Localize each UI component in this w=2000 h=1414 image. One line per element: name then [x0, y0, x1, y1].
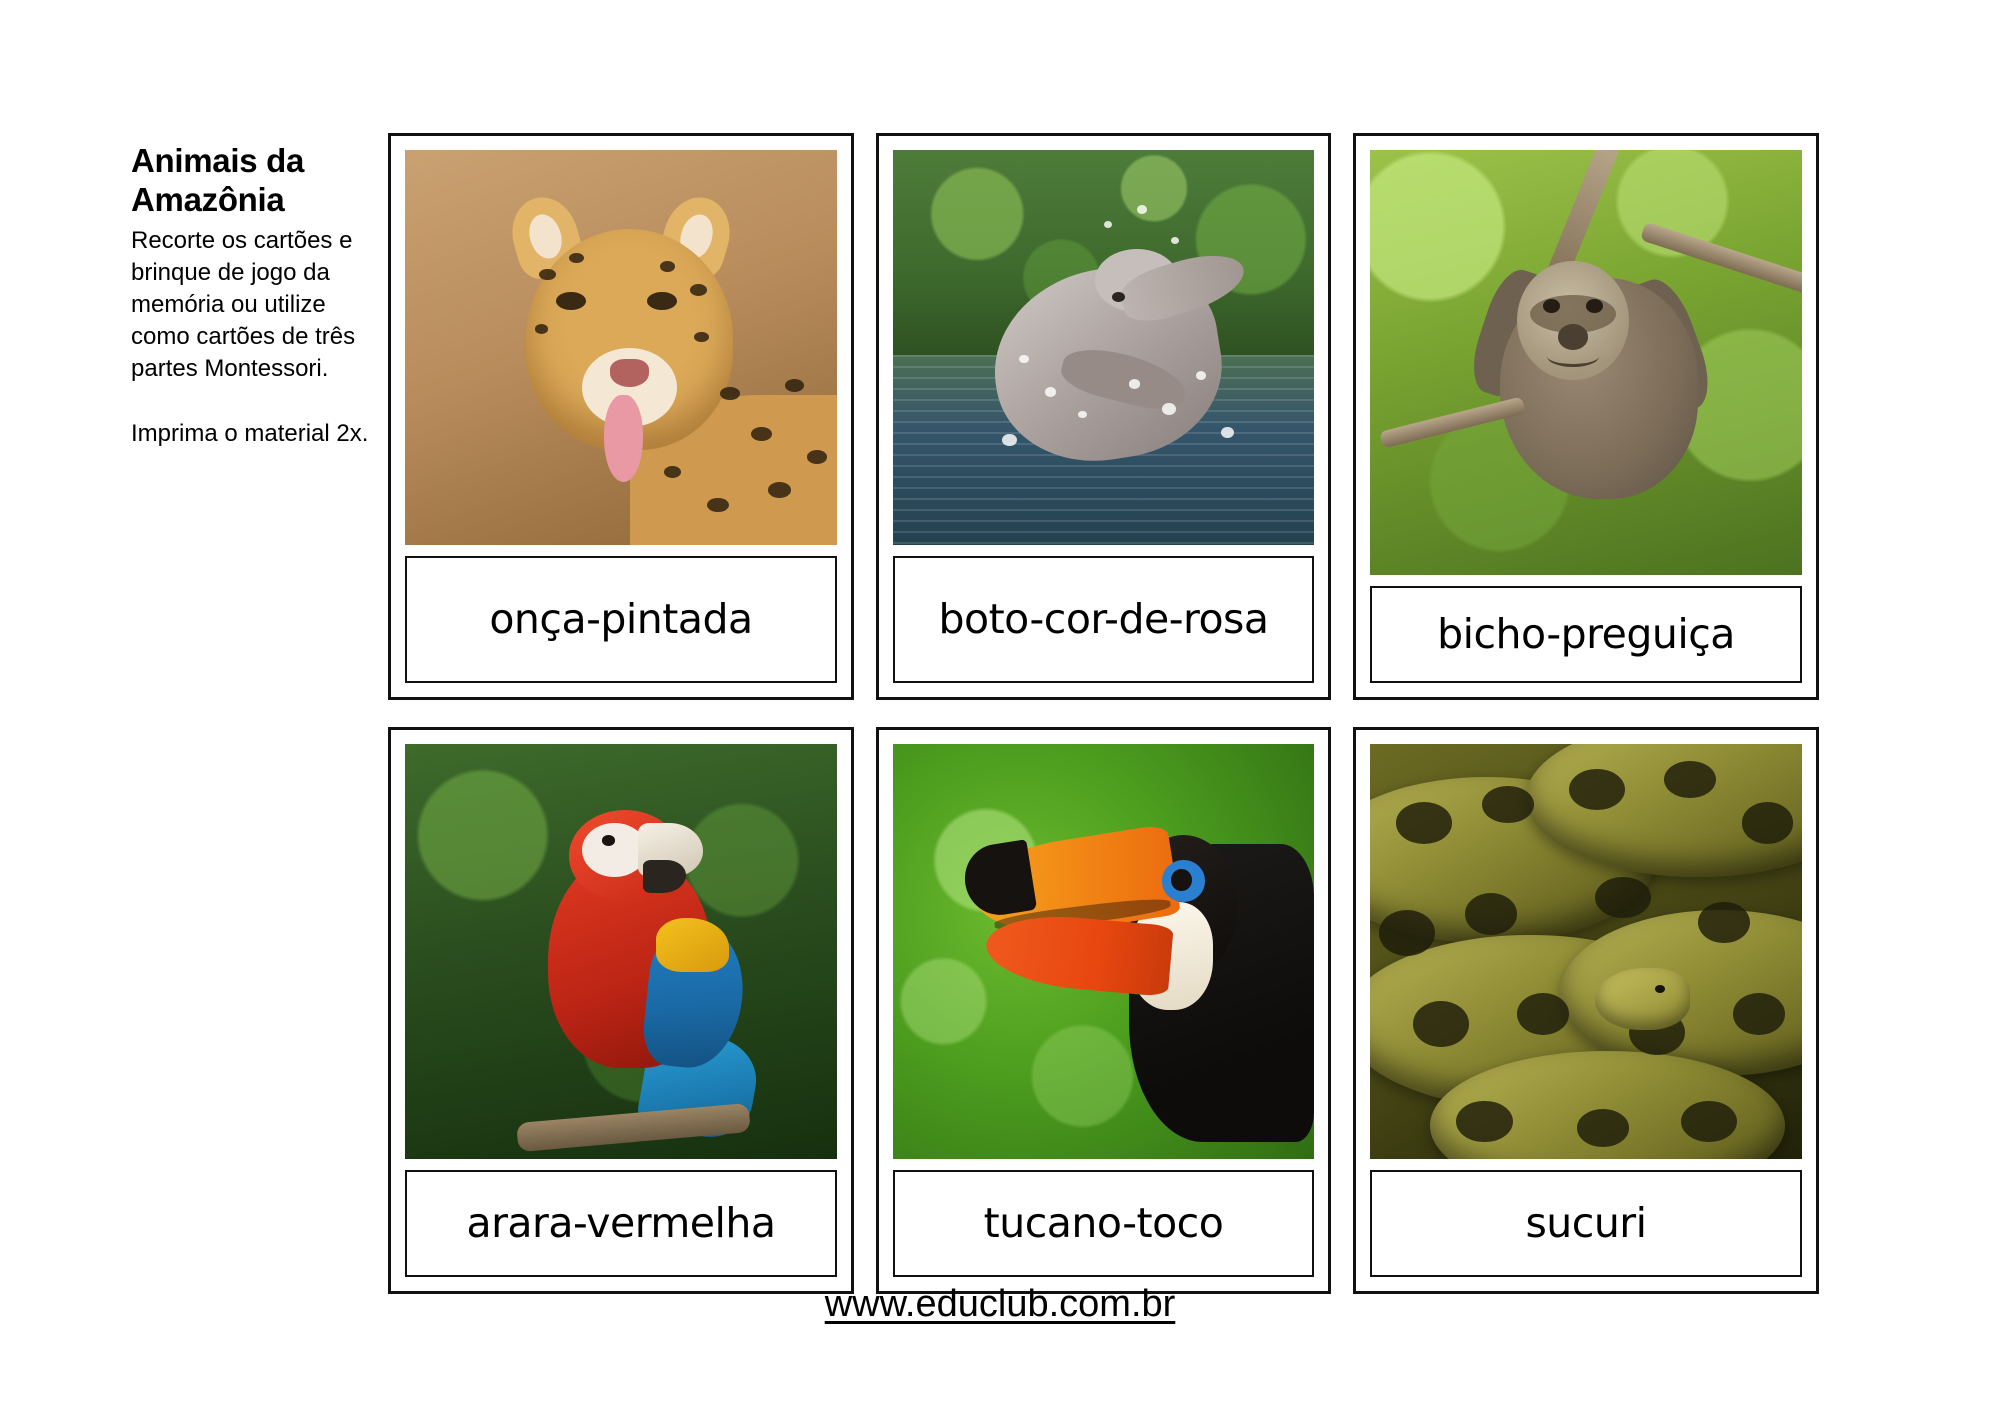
card-onca-pintada[interactable]: onça-pintada: [388, 133, 854, 700]
card-label: onça-pintada: [405, 556, 837, 683]
footer: www.educlub.com.br: [0, 1283, 2000, 1326]
card-label: tucano-toco: [893, 1170, 1314, 1277]
river-dolphin-photo: [893, 150, 1314, 545]
website-link[interactable]: www.educlub.com.br: [825, 1283, 1176, 1325]
card-label: boto-cor-de-rosa: [893, 556, 1314, 683]
anaconda-photo: [1370, 744, 1802, 1159]
card-tucano-toco[interactable]: tucano-toco: [876, 727, 1331, 1294]
card-bicho-preguica[interactable]: bicho-preguiça: [1353, 133, 1819, 700]
card-arara-vermelha[interactable]: arara-vermelha: [388, 727, 854, 1294]
card-grid: onça-pintada: [388, 133, 1819, 1294]
worksheet-page: Animais da Amazônia Recorte os cartões e…: [0, 0, 2000, 1414]
card-row: onça-pintada: [388, 133, 1819, 700]
card-label-text: onça-pintada: [489, 599, 752, 640]
card-row: arara-vermelha: [388, 727, 1819, 1294]
jaguar-photo: [405, 150, 837, 545]
scarlet-macaw-photo: [405, 744, 837, 1159]
card-label-text: tucano-toco: [984, 1203, 1224, 1244]
card-label-text: sucuri: [1525, 1203, 1646, 1244]
card-label-text: boto-cor-de-rosa: [938, 599, 1268, 640]
card-label: arara-vermelha: [405, 1170, 837, 1277]
instructions-panel: Animais da Amazônia Recorte os cartões e…: [131, 142, 383, 450]
page-title-line-1: Animais da: [131, 142, 304, 179]
page-title-line-2: Amazônia: [131, 181, 284, 218]
card-label: bicho-preguiça: [1370, 586, 1802, 683]
card-sucuri[interactable]: sucuri: [1353, 727, 1819, 1294]
toco-toucan-photo: [893, 744, 1314, 1159]
instructions-text: Recorte os cartões e brinque de jogo da …: [131, 225, 383, 385]
card-label-text: bicho-preguiça: [1437, 614, 1735, 655]
card-label-text: arara-vermelha: [466, 1203, 775, 1244]
sloth-photo: [1370, 150, 1802, 575]
instructions-note: Imprima o material 2x.: [131, 418, 383, 450]
card-label: sucuri: [1370, 1170, 1802, 1277]
card-boto-cor-de-rosa[interactable]: boto-cor-de-rosa: [876, 133, 1331, 700]
page-title: Animais da Amazônia: [131, 142, 383, 220]
